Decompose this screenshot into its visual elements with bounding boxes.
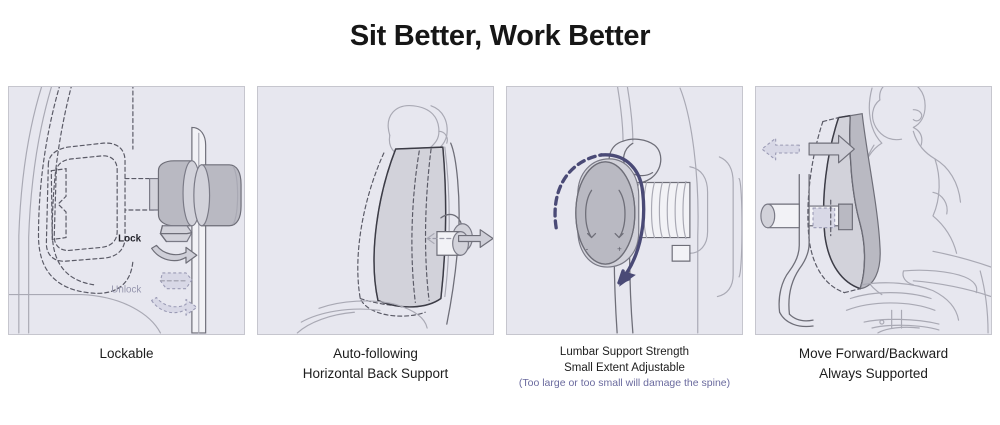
- caption-line: Lumbar Support Strength: [506, 344, 743, 360]
- caption-lockable: Lockable: [8, 344, 245, 391]
- page-title: Sit Better, Work Better: [0, 20, 1000, 53]
- caption-move-forward-backward: Move Forward/Backward Always Supported: [755, 344, 992, 391]
- caption-line: Auto-following: [257, 344, 494, 364]
- panel1-unlock-label: Unlock: [111, 285, 141, 296]
- caption-lumbar-support-strength: Lumbar Support Strength Small Extent Adj…: [506, 344, 743, 391]
- caption-note: (Too large or too small will damage the …: [506, 376, 743, 391]
- caption-line: Always Supported: [755, 364, 992, 384]
- knob-minus-label: -: [586, 244, 589, 253]
- caption-auto-following-back-support: Auto-following Horizontal Back Support: [257, 344, 494, 391]
- caption-line: Horizontal Back Support: [257, 364, 494, 384]
- panel1-lock-label: Lock: [118, 233, 141, 244]
- caption-line: Move Forward/Backward: [755, 344, 992, 364]
- panel-auto-following-back-support: [257, 86, 494, 335]
- panel-lumbar-support-strength: - +: [506, 86, 743, 335]
- illustration-headrest-lock-mechanism: Lock Unlock: [9, 87, 244, 334]
- panel-move-forward-backward: [755, 86, 992, 335]
- panel-lockable: Lock Unlock: [8, 86, 245, 335]
- illustration-lumbar-adjustment-knob: - +: [507, 87, 742, 334]
- caption-row: Lockable Auto-following Horizontal Back …: [8, 344, 992, 391]
- illustration-chair-back-flexing: [258, 87, 493, 334]
- caption-line: Small Extent Adjustable: [506, 360, 743, 376]
- illustration-seated-person-lumbar-travel: [756, 87, 991, 334]
- illustration-panel-row: Lock Unlock: [8, 86, 992, 336]
- knob-plus-label: +: [617, 244, 622, 253]
- caption-line: Lockable: [8, 344, 245, 364]
